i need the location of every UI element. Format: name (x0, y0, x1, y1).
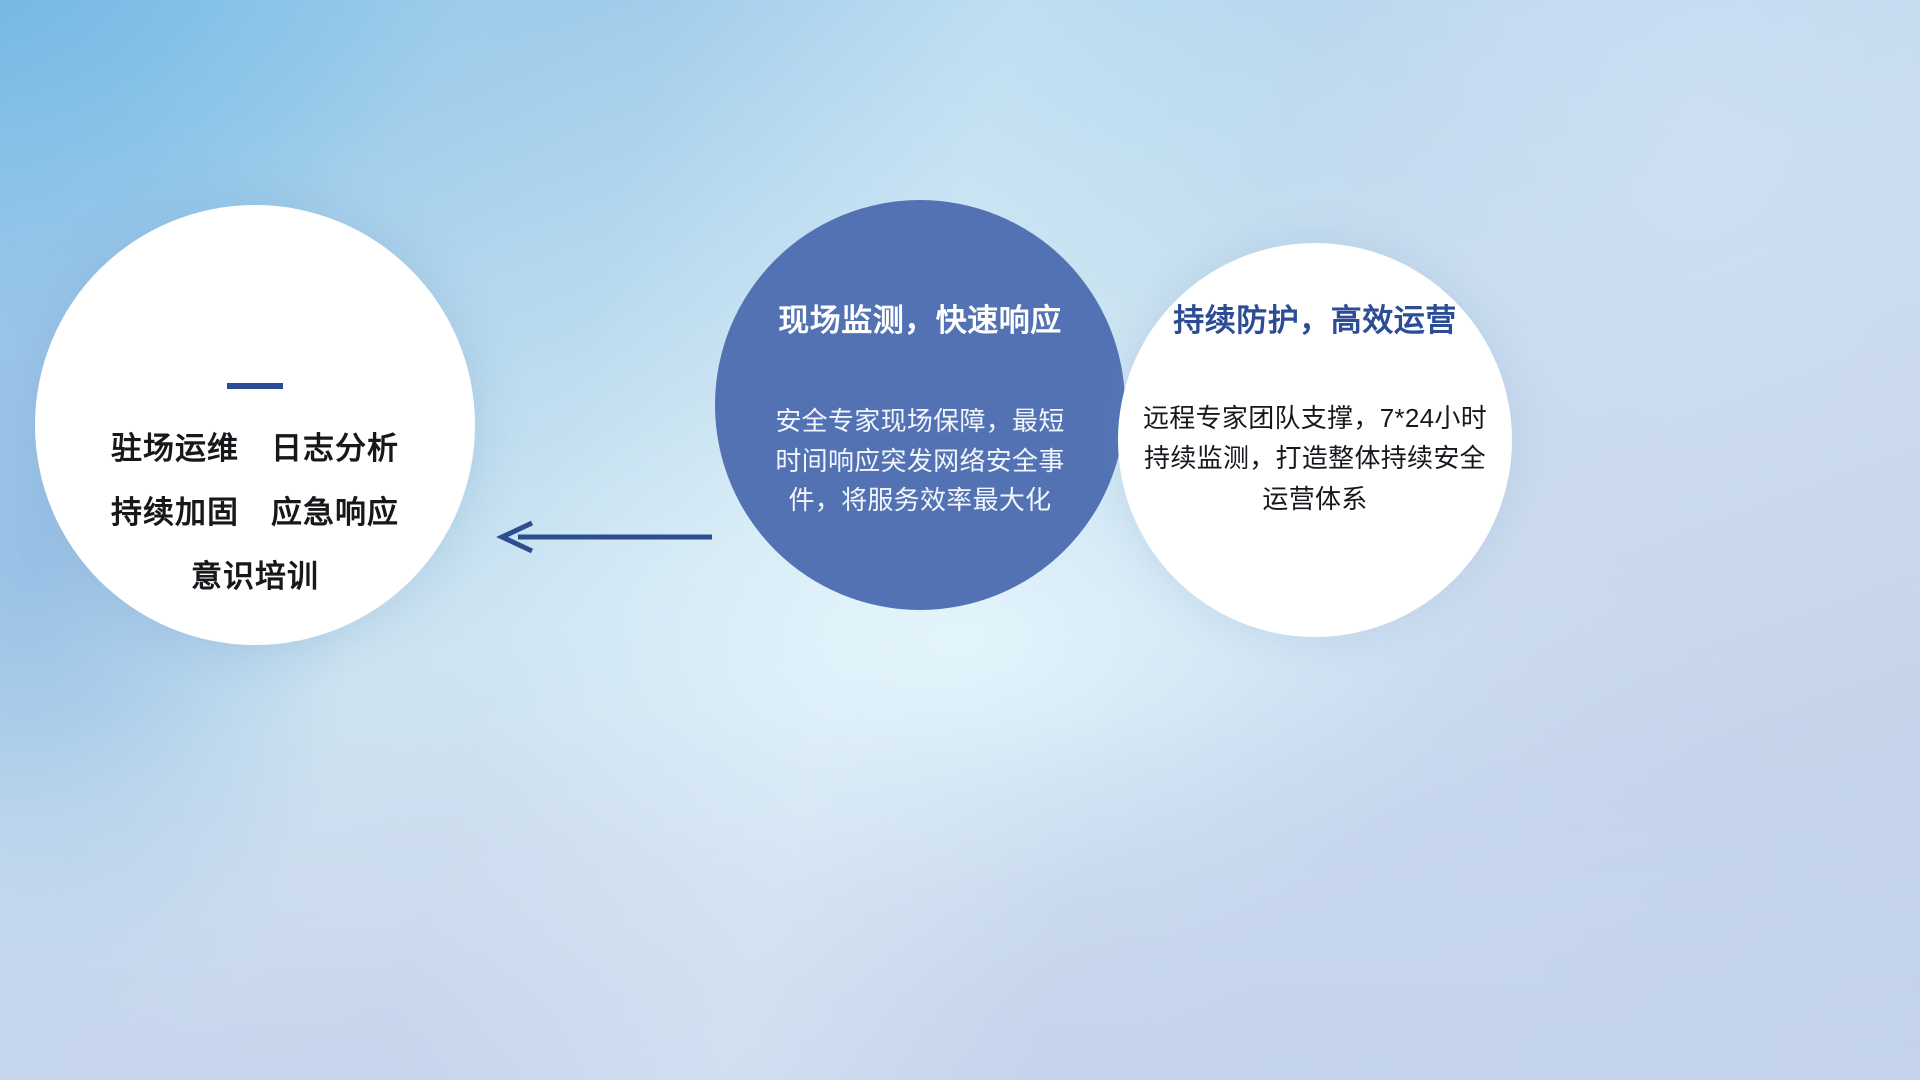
mid-service-circle: 现场监测，快速响应 安全专家现场保障，最短时间响应突发网络安全事件，将服务效率最… (715, 200, 1125, 610)
mid-circle-title: 现场监测，快速响应 (778, 295, 1062, 340)
left-circle-line-2: 持续加固 应急响应 (111, 497, 399, 528)
right-circle-content: 持续防护，高效运营 远程专家团队支撑，7*24小时持续监测，打造整体持续安全运营… (1118, 243, 1512, 519)
arrow-left-icon (496, 520, 712, 554)
mid-circle-content: 现场监测，快速响应 安全专家现场保障，最短时间响应突发网络安全事件，将服务效率最… (715, 200, 1125, 521)
divider-dash-icon (227, 383, 283, 389)
right-circle-title: 持续防护，高效运营 (1173, 295, 1457, 340)
left-service-circle: 驻场运维 日志分析 持续加固 应急响应 意识培训 (35, 205, 475, 645)
left-circle-line-3: 意识培训 (191, 561, 319, 592)
right-service-circle: 持续防护，高效运营 远程专家团队支撑，7*24小时持续监测，打造整体持续安全运营… (1118, 243, 1512, 637)
right-circle-body: 远程专家团队支撑，7*24小时持续监测，打造整体持续安全运营体系 (1135, 398, 1495, 519)
left-circle-line-1: 驻场运维 日志分析 (111, 433, 399, 464)
left-circle-content: 驻场运维 日志分析 持续加固 应急响应 意识培训 (35, 205, 475, 592)
diagram-canvas: 驻场运维 日志分析 持续加固 应急响应 意识培训 现场监测，快速响应 安全专家现… (0, 0, 1920, 1080)
mid-circle-body: 安全专家现场保障，最短时间响应突发网络安全事件，将服务效率最大化 (774, 402, 1066, 521)
